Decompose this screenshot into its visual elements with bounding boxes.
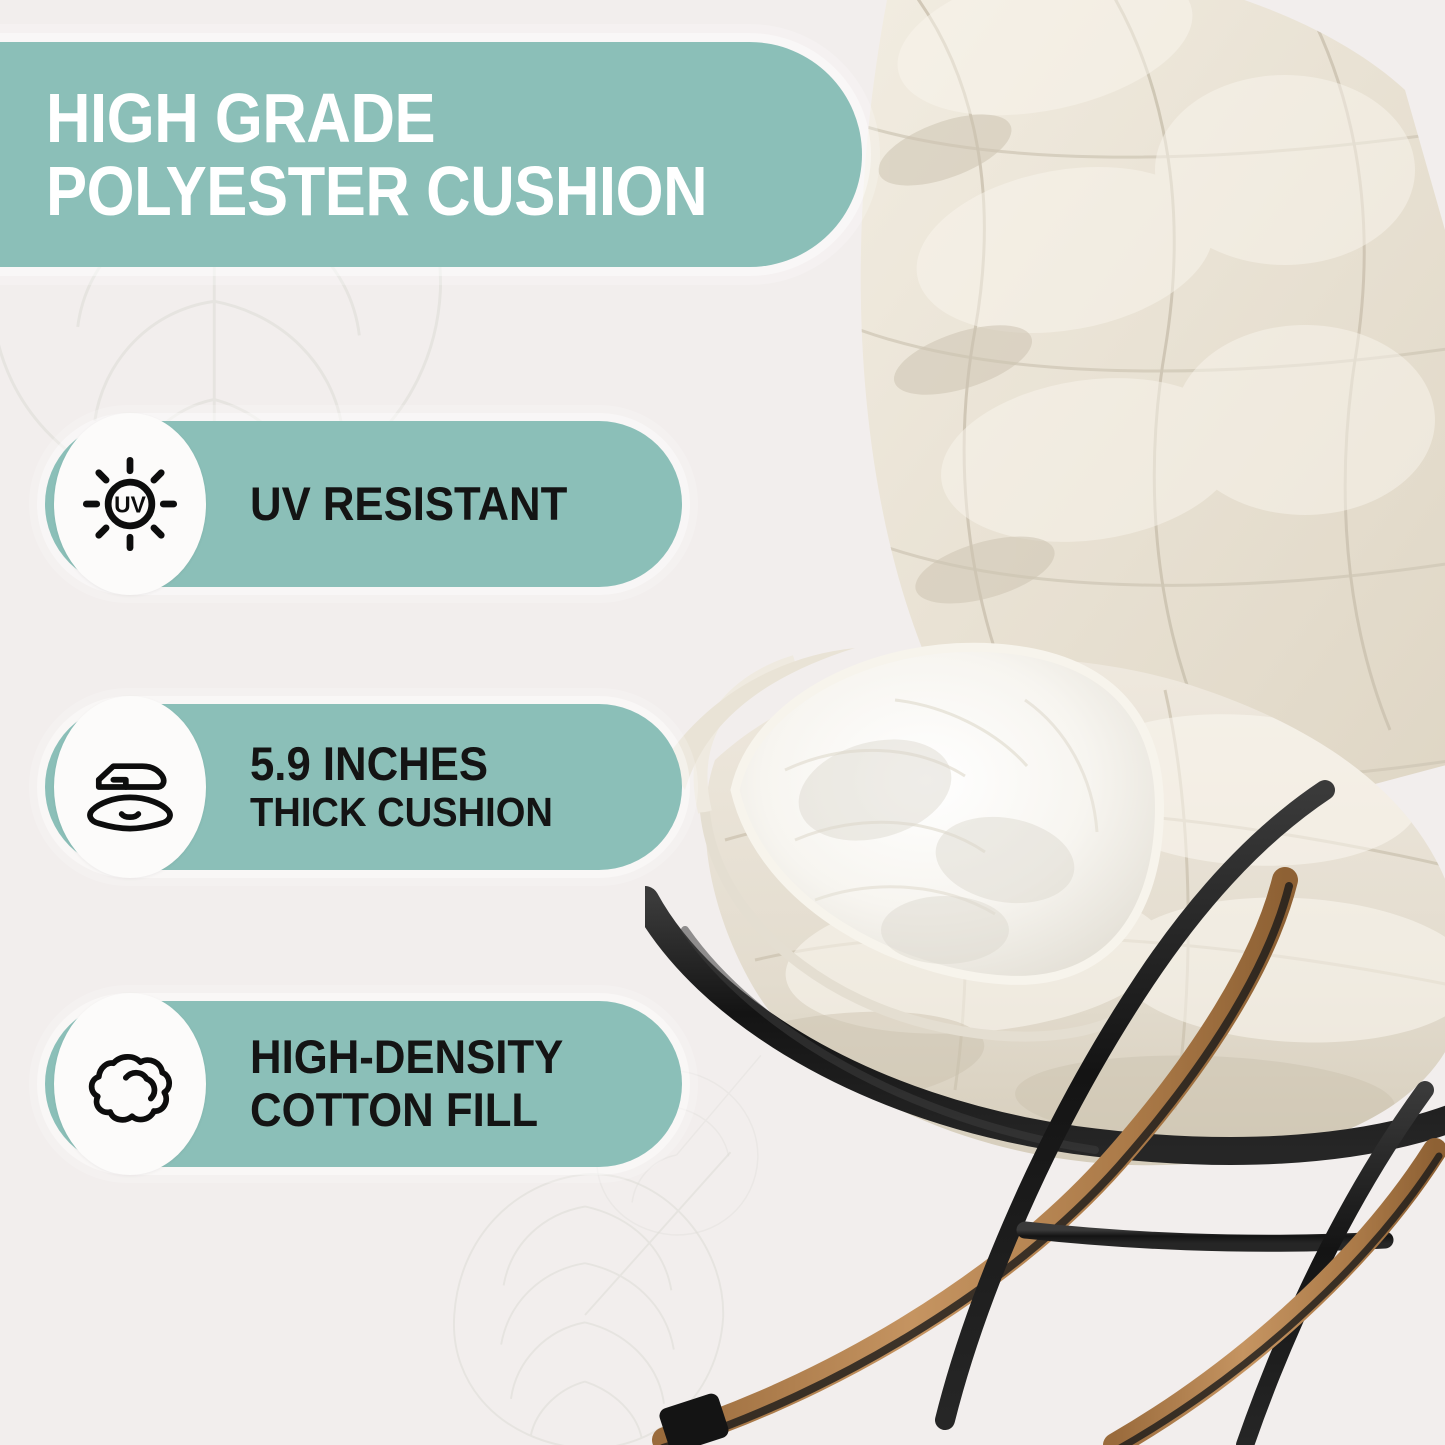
- page-title-line-1: HIGH GRADE: [46, 82, 764, 154]
- uv-sun-icon: UV: [78, 452, 182, 556]
- feature-pill-thickness: 5.9 INCHES THICK CUSHION: [45, 704, 682, 870]
- feature-pill-cotton-text: HIGH-DENSITY COTTON FILL: [250, 1031, 587, 1136]
- infographic-canvas: HIGH GRADE POLYESTER CUSHION UV UV RESIS…: [0, 0, 1445, 1445]
- uv-sun-icon-badge: UV: [54, 413, 206, 595]
- cotton-cloud-icon-badge: [54, 993, 206, 1175]
- hand-on-cushion-icon-badge: [54, 696, 206, 878]
- hand-on-cushion-icon: [78, 735, 182, 839]
- feature-label-line-1: UV RESISTANT: [250, 478, 567, 530]
- feature-label-line-1: HIGH-DENSITY: [250, 1031, 563, 1084]
- feature-pill-thickness-text: 5.9 INCHES THICK CUSHION: [250, 738, 576, 837]
- feature-pill-uv-resistant: UV UV RESISTANT: [45, 421, 682, 587]
- feature-label-line-2: COTTON FILL: [250, 1084, 563, 1137]
- feature-label-line-2: THICK CUSHION: [250, 790, 553, 836]
- feature-label-line-1: 5.9 INCHES: [250, 738, 553, 791]
- cotton-cloud-icon: [78, 1032, 182, 1136]
- feature-pill-uv-text: UV RESISTANT: [250, 478, 591, 530]
- title-banner: HIGH GRADE POLYESTER CUSHION: [0, 42, 862, 267]
- svg-text:UV: UV: [114, 491, 147, 517]
- feature-pill-cotton-fill: HIGH-DENSITY COTTON FILL: [45, 1001, 682, 1167]
- page-title-line-2: POLYESTER CUSHION: [46, 155, 764, 227]
